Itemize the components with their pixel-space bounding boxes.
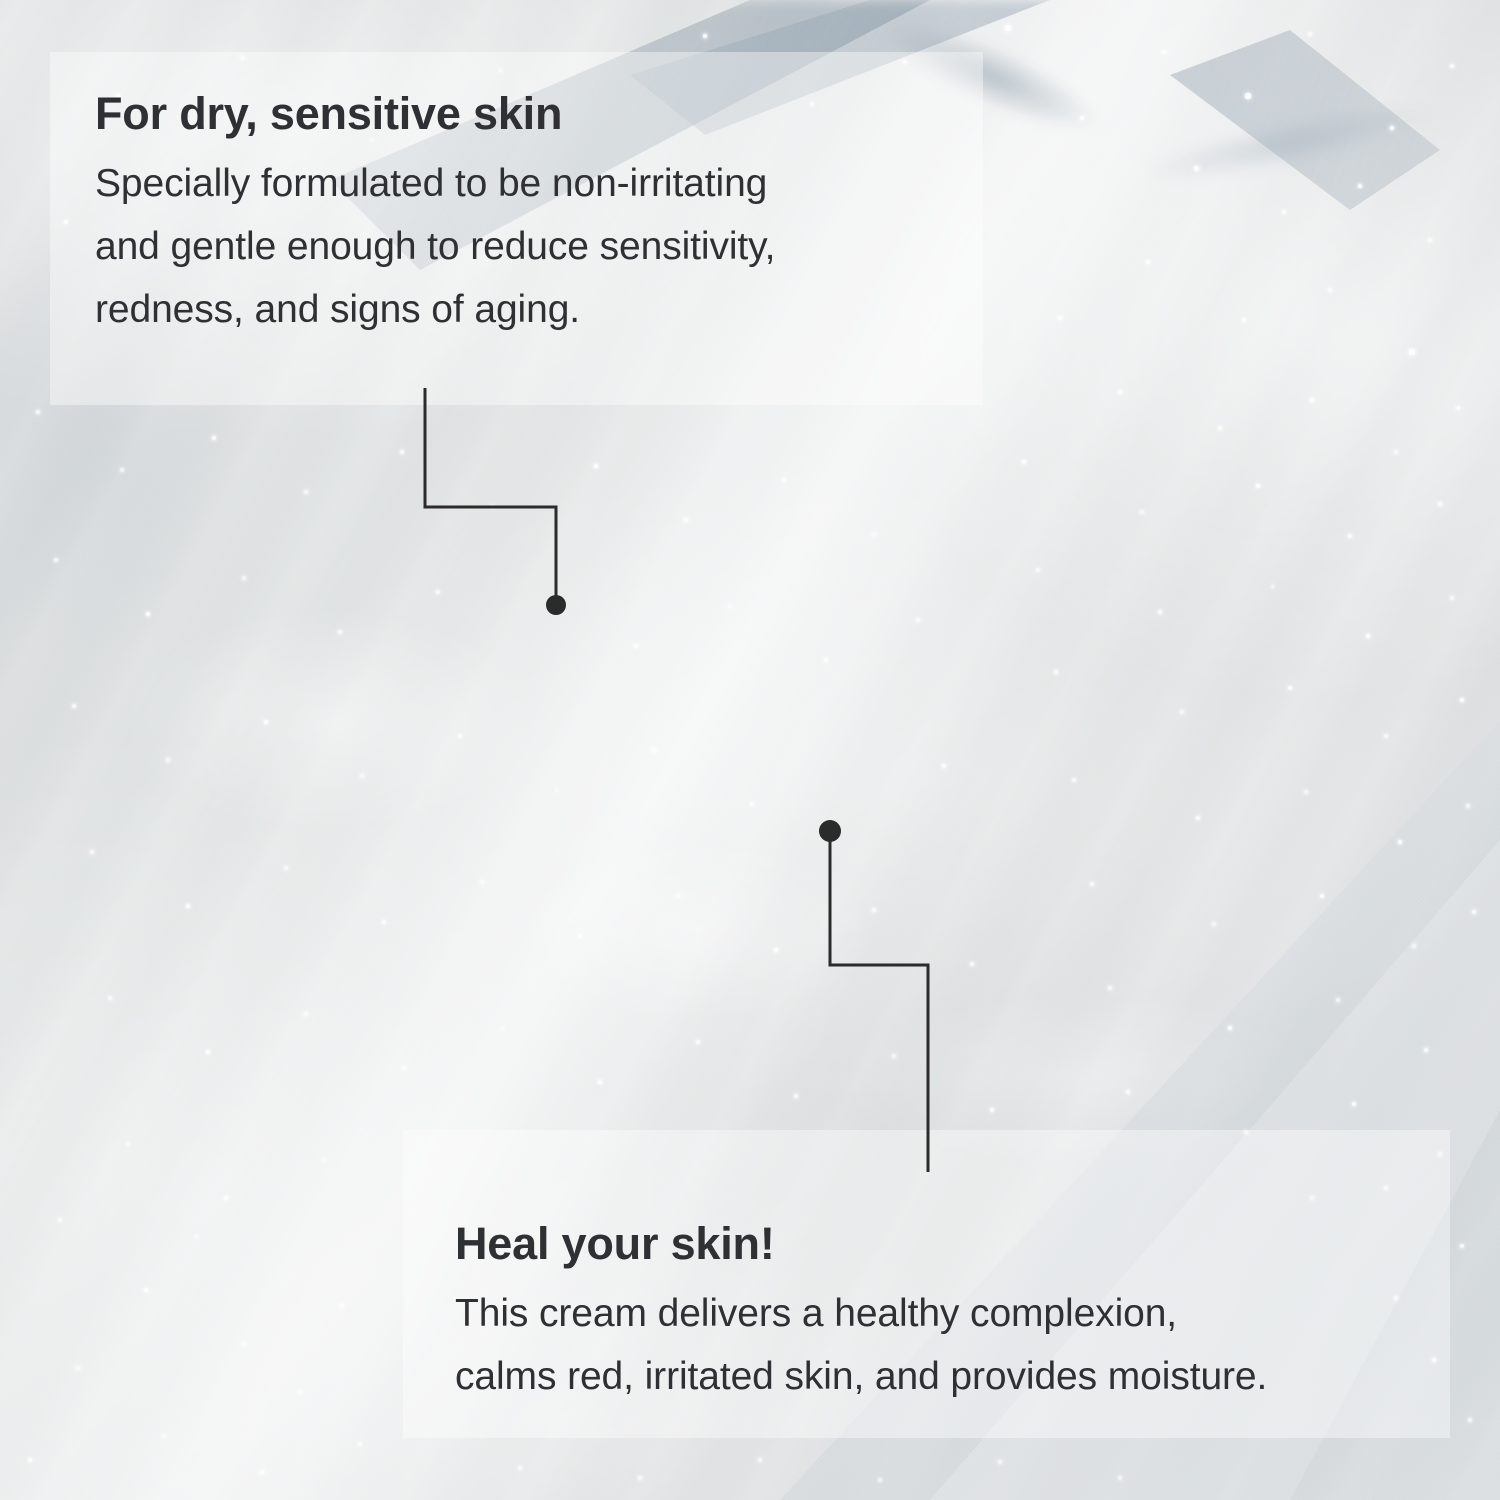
callout-body-line: redness, and signs of aging. [95, 278, 983, 341]
infographic-canvas: For dry, sensitive skin Specially formul… [0, 0, 1500, 1500]
callout-body-line: Specially formulated to be non-irritatin… [95, 152, 983, 215]
callout-body-line: This cream delivers a healthy complexion… [455, 1282, 1450, 1345]
callout-title: Heal your skin! [455, 1220, 1450, 1268]
callout-body-line: calms red, irritated skin, and provides … [455, 1345, 1450, 1408]
leader-line-top [425, 388, 556, 596]
leader-dot-top [546, 595, 566, 615]
cream-ridge-shadow-e [1132, 60, 1447, 225]
callout-heal-your-skin: Heal your skin! This cream delivers a he… [403, 1130, 1450, 1438]
leader-dot-bottom [819, 820, 841, 842]
leader-line-bottom [830, 841, 928, 1172]
callout-title: For dry, sensitive skin [95, 90, 983, 138]
callout-body: Specially formulated to be non-irritatin… [95, 152, 983, 342]
callout-for-dry-sensitive-skin: For dry, sensitive skin Specially formul… [50, 52, 983, 405]
callout-body-line: and gentle enough to reduce sensitivity, [95, 215, 983, 278]
callout-body: This cream delivers a healthy complexion… [455, 1282, 1450, 1408]
